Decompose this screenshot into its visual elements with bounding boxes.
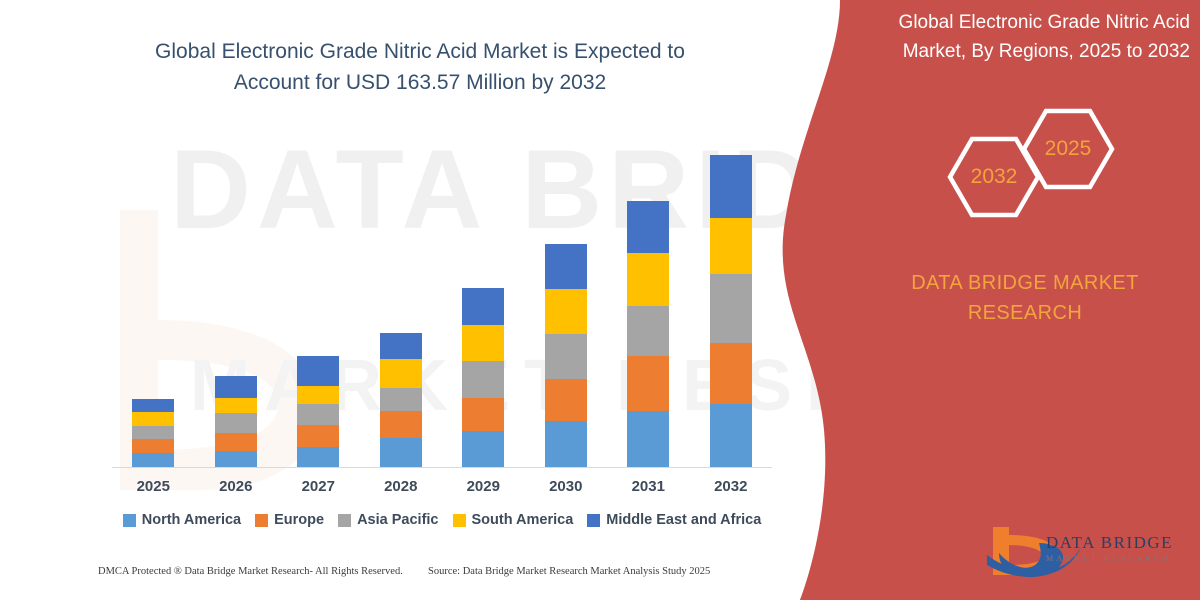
bar-segment (627, 356, 669, 411)
x-axis-label: 2028 (360, 478, 443, 495)
bar-segment (710, 404, 752, 467)
hexagon-label-2032: 2032 (966, 165, 1022, 189)
x-axis-label: 2030 (525, 478, 608, 495)
bar-segment (627, 201, 669, 253)
bar-segment (462, 361, 504, 398)
bar-slot (195, 120, 278, 467)
bar-segment (132, 426, 174, 439)
legend-swatch-icon (587, 514, 600, 527)
stacked-bar (132, 399, 174, 467)
stacked-bar (297, 356, 339, 467)
bar-segment (215, 451, 257, 467)
bar-segment (545, 289, 587, 334)
legend-label: North America (142, 512, 241, 528)
bar-segment (627, 306, 669, 356)
bar-segment (132, 439, 174, 453)
stacked-bars (112, 120, 772, 467)
bar-segment (380, 438, 422, 467)
legend-swatch-icon (338, 514, 351, 527)
bar-segment (380, 333, 422, 359)
bar-segment (710, 155, 752, 218)
footer-copyright: DMCA Protected ® Data Bridge Market Rese… (98, 566, 403, 577)
bar-slot (525, 120, 608, 467)
hexagon-label-2025: 2025 (1040, 137, 1096, 161)
bar-segment (710, 274, 752, 343)
bar-segment (462, 288, 504, 325)
stacked-bar (545, 244, 587, 467)
stacked-bar (710, 155, 752, 467)
chart-plot-area (112, 120, 772, 468)
bar-segment (297, 404, 339, 425)
brand-name: DATA BRIDGE MARKET RESEARCH (860, 268, 1190, 328)
bar-segment (380, 388, 422, 411)
x-axis-label: 2032 (690, 478, 773, 495)
x-axis-label: 2029 (442, 478, 525, 495)
right-panel-title: Global Electronic Grade Nitric Acid Mark… (845, 8, 1190, 66)
bar-segment (627, 253, 669, 306)
bar-segment (545, 334, 587, 379)
bar-segment (462, 398, 504, 431)
bar-segment (215, 433, 257, 451)
legend-item[interactable]: Middle East and Africa (587, 512, 761, 528)
bar-segment (297, 425, 339, 447)
stacked-bar (380, 333, 422, 467)
legend-item[interactable]: North America (123, 512, 241, 528)
legend-label: Asia Pacific (357, 512, 438, 528)
footer-source: Source: Data Bridge Market Research Mark… (428, 566, 710, 577)
logo-title: DATA BRIDGE (1046, 533, 1173, 553)
bar-segment (132, 412, 174, 426)
bar-slot (360, 120, 443, 467)
bar-segment (545, 379, 587, 421)
x-axis-label: 2031 (607, 478, 690, 495)
bar-segment (215, 413, 257, 433)
bar-segment (215, 398, 257, 413)
legend-label: Europe (274, 512, 324, 528)
bar-segment (380, 359, 422, 388)
bar-segment (132, 399, 174, 412)
bar-segment (297, 447, 339, 467)
bar-slot (607, 120, 690, 467)
stacked-bar (462, 288, 504, 467)
x-axis-line (112, 467, 772, 468)
bar-segment (462, 325, 504, 361)
legend-swatch-icon (453, 514, 466, 527)
bar-segment (627, 411, 669, 467)
bar-segment (545, 421, 587, 467)
stacked-bar (627, 201, 669, 467)
bar-segment (545, 244, 587, 289)
legend-item[interactable]: Asia Pacific (338, 512, 438, 528)
bar-segment (132, 453, 174, 467)
x-axis-label: 2026 (195, 478, 278, 495)
bar-segment (462, 431, 504, 467)
bar-slot (277, 120, 360, 467)
legend-item[interactable]: Europe (255, 512, 324, 528)
hexagon-group: 2032 2025 (920, 105, 1120, 230)
infographic-page: DATA BRIDGE MARKET RESEARCH Global Elect… (0, 0, 1200, 600)
chart-title: Global Electronic Grade Nitric Acid Mark… (120, 36, 720, 98)
legend-label: South America (472, 512, 574, 528)
bar-slot (442, 120, 525, 467)
legend-swatch-icon (123, 514, 136, 527)
bar-slot (690, 120, 773, 467)
x-axis-label: 2025 (112, 478, 195, 495)
legend-swatch-icon (255, 514, 268, 527)
logo-subtitle: MARKET RESEARCH (1046, 554, 1171, 563)
x-axis-label: 2027 (277, 478, 360, 495)
bar-segment (710, 343, 752, 404)
x-axis-labels: 20252026202720282029203020312032 (112, 478, 772, 495)
bar-segment (297, 386, 339, 404)
bar-segment (215, 376, 257, 398)
legend-item[interactable]: South America (453, 512, 574, 528)
bar-slot (112, 120, 195, 467)
chart-legend: North AmericaEuropeAsia PacificSouth Ame… (112, 512, 772, 528)
legend-label: Middle East and Africa (606, 512, 761, 528)
bar-segment (297, 356, 339, 386)
bar-segment (710, 218, 752, 274)
bar-segment (380, 411, 422, 438)
stacked-bar (215, 376, 257, 467)
